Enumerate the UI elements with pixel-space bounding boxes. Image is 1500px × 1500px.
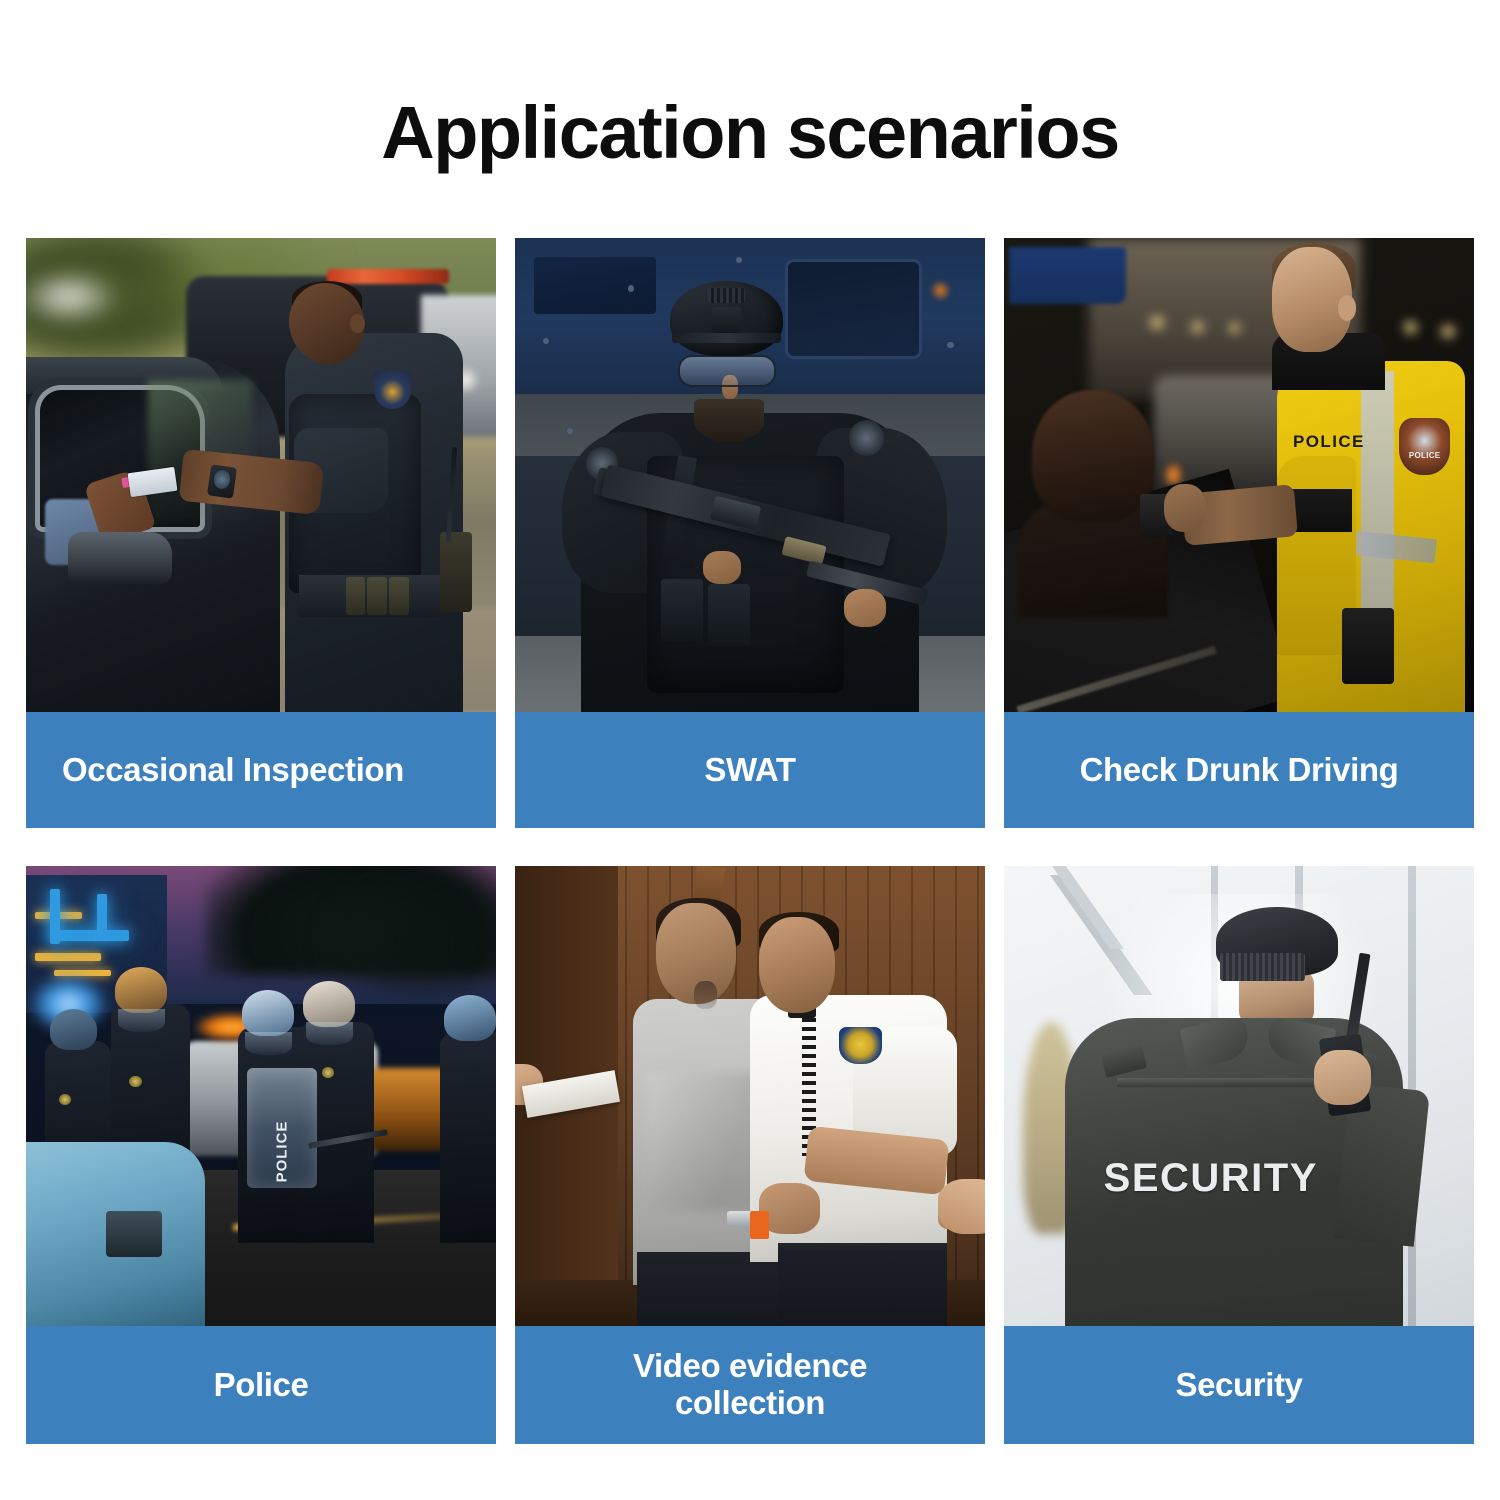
helmet-vent — [708, 288, 746, 303]
application-scenarios-page: Application scenarios — [0, 0, 1500, 1500]
neon-sign-bar — [54, 970, 110, 976]
background-awning — [1009, 247, 1127, 304]
riot-helmet — [242, 990, 294, 1036]
belt-pouch — [389, 577, 409, 615]
scenario-tile-police[interactable]: POLICE Police — [26, 866, 496, 1444]
operator-beard — [694, 399, 765, 442]
jacket-police-text: POLICE — [1293, 432, 1396, 452]
magazine-pouch — [708, 584, 750, 646]
photo-security: SECURITY — [1004, 866, 1474, 1326]
neon-sign-bar — [35, 953, 101, 960]
officer-hand — [1164, 484, 1206, 531]
bokeh-light — [1145, 314, 1169, 331]
uniform-badge — [129, 1076, 141, 1087]
riot-officer — [440, 1032, 496, 1244]
helmet-rail — [672, 333, 780, 343]
caption-security: Security — [1004, 1326, 1474, 1444]
jacket-security-text: SECURITY — [1065, 1156, 1356, 1201]
neon-sign-bar — [50, 930, 130, 941]
photo-swat — [515, 238, 985, 712]
police-crest-badge — [1399, 418, 1451, 475]
police-shoulder-patch — [374, 371, 412, 409]
background-highlight — [26, 271, 120, 323]
riot-helmet — [303, 981, 355, 1027]
patrol-lightbar — [327, 269, 449, 284]
orange-wristband — [750, 1211, 769, 1239]
belt-pouch — [367, 577, 387, 615]
belt-radio — [440, 532, 473, 613]
helmet-visor — [306, 1022, 353, 1045]
scenario-tile-occasional-inspection[interactable]: Occasional Inspection — [26, 238, 496, 828]
vehicle-rivet — [628, 285, 634, 291]
neck-tattoo — [694, 981, 718, 1009]
court-officer-trousers — [778, 1252, 947, 1326]
helmet-nvg-mount — [712, 307, 740, 333]
side-mirror — [68, 532, 171, 584]
uniform-badge — [322, 1067, 334, 1078]
photo-occasional-inspection — [26, 238, 496, 712]
caption-line-1: Video evidence — [633, 1347, 867, 1384]
helmet-visor — [245, 1032, 292, 1055]
photo-police: POLICE — [26, 866, 496, 1326]
armored-vehicle-window — [788, 262, 920, 357]
caption-swat: SWAT — [515, 712, 985, 828]
bokeh-light — [1436, 323, 1460, 340]
helmet-visor — [118, 1009, 165, 1032]
belt-pouch — [346, 577, 366, 615]
neon-sign-bar — [50, 889, 60, 944]
officer-holster — [1342, 608, 1394, 684]
riot-helmet — [115, 967, 167, 1013]
caption-video-evidence-collection: Video evidence collection — [515, 1326, 985, 1444]
bokeh-light — [1187, 319, 1208, 335]
truck-side-mirror — [106, 1211, 162, 1257]
photo-video-evidence-collection — [515, 866, 985, 1326]
guard-hand — [1314, 1050, 1370, 1105]
page-title: Application scenarios — [0, 96, 1500, 170]
armored-vehicle-window-2 — [534, 257, 656, 314]
neon-sign-bar — [97, 894, 107, 935]
trial-court-shoulder-patch — [839, 1027, 881, 1064]
background-tree-2 — [317, 866, 496, 995]
vehicle-rivet — [543, 338, 549, 344]
riot-helmet — [444, 995, 496, 1041]
photo-check-drunk-driving: POLICE POLICE — [1004, 238, 1474, 712]
vehicle-marker-light — [929, 281, 953, 300]
operator-hand-right — [844, 589, 886, 627]
badge-police-text: POLICE — [1401, 451, 1448, 460]
caption-police: Police — [26, 1326, 496, 1444]
caption-line-2: collection — [675, 1384, 825, 1421]
bokeh-light — [1225, 321, 1244, 335]
caption-occasional-inspection: Occasional Inspection — [26, 712, 496, 828]
operator-hand-left — [703, 551, 741, 584]
bystander-hand — [938, 1179, 985, 1234]
defendant-trousers — [637, 1252, 797, 1326]
cap-mesh-back — [1220, 953, 1305, 981]
driver-hair — [1032, 390, 1154, 523]
bokeh-light — [1399, 319, 1423, 336]
scenario-tile-security[interactable]: SECURITY Security — [1004, 866, 1474, 1444]
reflective-stripe-vertical — [1361, 371, 1394, 646]
caption-check-drunk-driving: Check Drunk Driving — [1004, 712, 1474, 828]
riot-helmet — [50, 1009, 97, 1050]
court-officer-head — [759, 917, 834, 1014]
scenario-grid: Occasional Inspection — [26, 238, 1474, 1444]
scenario-tile-video-evidence-collection[interactable]: Video evidence collection — [515, 866, 985, 1444]
magazine-pouch — [661, 579, 703, 641]
riot-shield-police-text: POLICE — [274, 1119, 291, 1185]
vehicle-rivet — [947, 342, 953, 348]
swat-shoulder-patch-right — [849, 420, 884, 456]
vehicle-rivet — [567, 428, 573, 434]
ballistic-goggles — [680, 357, 774, 385]
scenario-tile-check-drunk-driving[interactable]: POLICE POLICE Check Drunk Driving — [1004, 238, 1474, 828]
scenario-tile-swat[interactable]: SWAT — [515, 238, 985, 828]
